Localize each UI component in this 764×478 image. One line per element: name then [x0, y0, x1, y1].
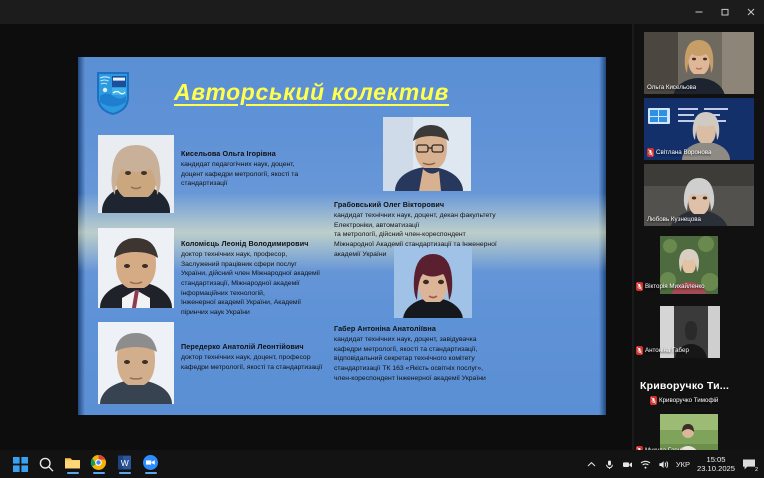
microphone-icon[interactable]	[604, 459, 615, 470]
active-speaker-label: Криворучко Ти...	[634, 374, 764, 396]
clock[interactable]: 15:05 23.10.2025	[697, 455, 735, 474]
microphone-muted-icon	[636, 346, 643, 355]
presentation-slide: Авторський колектив	[78, 57, 606, 415]
running-indicator	[67, 472, 79, 474]
participant-name-tag: Любовь Кузнецова	[647, 216, 701, 223]
author-bio-1: Кисельова Ольга Ігорівна кандидат педаго…	[181, 149, 331, 189]
chevron-up-icon[interactable]	[586, 459, 597, 470]
author-bio-3: Передерко Анатолій Леонтійович доктор те…	[181, 342, 346, 372]
wifi-icon[interactable]	[640, 459, 651, 470]
microphone-muted-icon	[650, 396, 657, 405]
notification-badge: 2	[755, 467, 758, 473]
participant-name-tag: Вікторія Михайленко	[636, 282, 705, 291]
participant-name: Вікторія Михайленко	[645, 283, 705, 290]
author-name: Коломієць Леонід Володимирович	[181, 239, 346, 248]
author-description: кандидат технічних наук, доцент, декан ф…	[334, 211, 579, 259]
microphone-muted-icon	[636, 282, 643, 291]
participant-name-tag: Антоніна Габер	[636, 346, 689, 355]
svg-text:W: W	[121, 458, 129, 468]
author-photo-4	[383, 117, 471, 191]
zoom-app-button[interactable]	[142, 454, 159, 474]
author-name: Грабовський Олег Вікторович	[334, 200, 579, 209]
folder-icon	[64, 454, 81, 471]
participant-tile[interactable]: Любовь Кузнецова	[644, 164, 754, 226]
notification-center-button[interactable]: 2	[742, 458, 756, 471]
shared-screen-stage: Авторський колектив	[0, 24, 632, 450]
author-description: доктор технічних наук, професор, Заслуже…	[181, 250, 346, 317]
start-button[interactable]	[12, 456, 29, 473]
participant-name-tag: Ольга Кисельова	[647, 84, 696, 91]
author-description: кандидат технічних наук, доцент, завідув…	[334, 335, 584, 383]
author-description: доктор технічних наук, доцент, професор …	[181, 353, 346, 372]
participant-name: Криворучко Тимофій	[659, 397, 718, 404]
windows-icon	[12, 456, 29, 473]
window-titlebar	[0, 0, 764, 24]
author-description: кандидат педагогічних наук, доцент, доце…	[181, 160, 331, 189]
chat-bubble-icon	[742, 458, 756, 471]
chrome-icon	[90, 454, 107, 471]
author-photo-1	[98, 135, 174, 213]
clock-time: 15:05	[697, 455, 735, 464]
participant-name: Ольга Кисельова	[647, 84, 696, 91]
participant-name: Світлана Воронова	[656, 149, 711, 156]
camera-icon[interactable]	[622, 459, 633, 470]
google-chrome-button[interactable]	[90, 454, 107, 474]
search-button[interactable]	[38, 456, 55, 473]
slide-right-edge	[599, 57, 606, 415]
participant-tile[interactable]: Світлана Воронова	[644, 98, 754, 160]
speaker-icon[interactable]	[658, 459, 669, 470]
running-indicator	[119, 472, 131, 474]
participant-name-tag: Криворучко Тимофій	[650, 396, 754, 405]
participant-rail[interactable]: Ольга Кисельова	[634, 24, 764, 450]
minimize-button[interactable]	[686, 1, 712, 23]
participant-tile[interactable]: Антоніна Габер	[660, 306, 720, 358]
author-name: Передерко Анатолій Леонтійович	[181, 342, 346, 351]
close-button[interactable]	[738, 1, 764, 23]
author-name: Габер Антоніна Анатоліївна	[334, 324, 584, 333]
author-name: Кисельова Ольга Ігорівна	[181, 149, 331, 158]
participant-name-tag: Світлана Воронова	[647, 148, 711, 157]
search-icon	[38, 456, 55, 473]
author-photo-3	[98, 322, 174, 404]
participant-tile[interactable]: Ольга Кисельова	[644, 32, 754, 94]
clock-date: 23.10.2025	[697, 464, 735, 473]
slide-left-edge	[78, 57, 85, 415]
participant-name: Антоніна Габер	[645, 347, 689, 354]
participant-tile[interactable]: Криворучко Тимофій	[644, 396, 754, 408]
running-indicator	[145, 472, 157, 474]
participant-tile[interactable]: Вікторія Михайленко	[660, 236, 718, 294]
slide-title: Авторський колектив	[174, 79, 574, 106]
desktop-root: Авторський колектив	[0, 0, 764, 478]
language-indicator[interactable]: УКР	[676, 460, 690, 469]
university-shield-emblem	[94, 69, 132, 117]
word-icon: W	[116, 454, 133, 471]
running-indicator	[93, 472, 105, 474]
windows-taskbar[interactable]: W	[0, 450, 764, 478]
participant-name: Любовь Кузнецова	[647, 216, 701, 223]
microphone-muted-icon	[647, 148, 654, 157]
author-bio-4: Грабовський Олег Вікторович кандидат тех…	[334, 200, 579, 259]
zoom-icon	[142, 454, 159, 471]
restore-button[interactable]	[712, 1, 738, 23]
author-bio-5: Габер Антоніна Анатоліївна кандидат техн…	[334, 324, 584, 383]
author-photo-2	[98, 228, 174, 308]
file-explorer-button[interactable]	[64, 454, 81, 474]
author-bio-2: Коломієць Леонід Володимирович доктор те…	[181, 239, 346, 317]
microsoft-word-button[interactable]: W	[116, 454, 133, 474]
